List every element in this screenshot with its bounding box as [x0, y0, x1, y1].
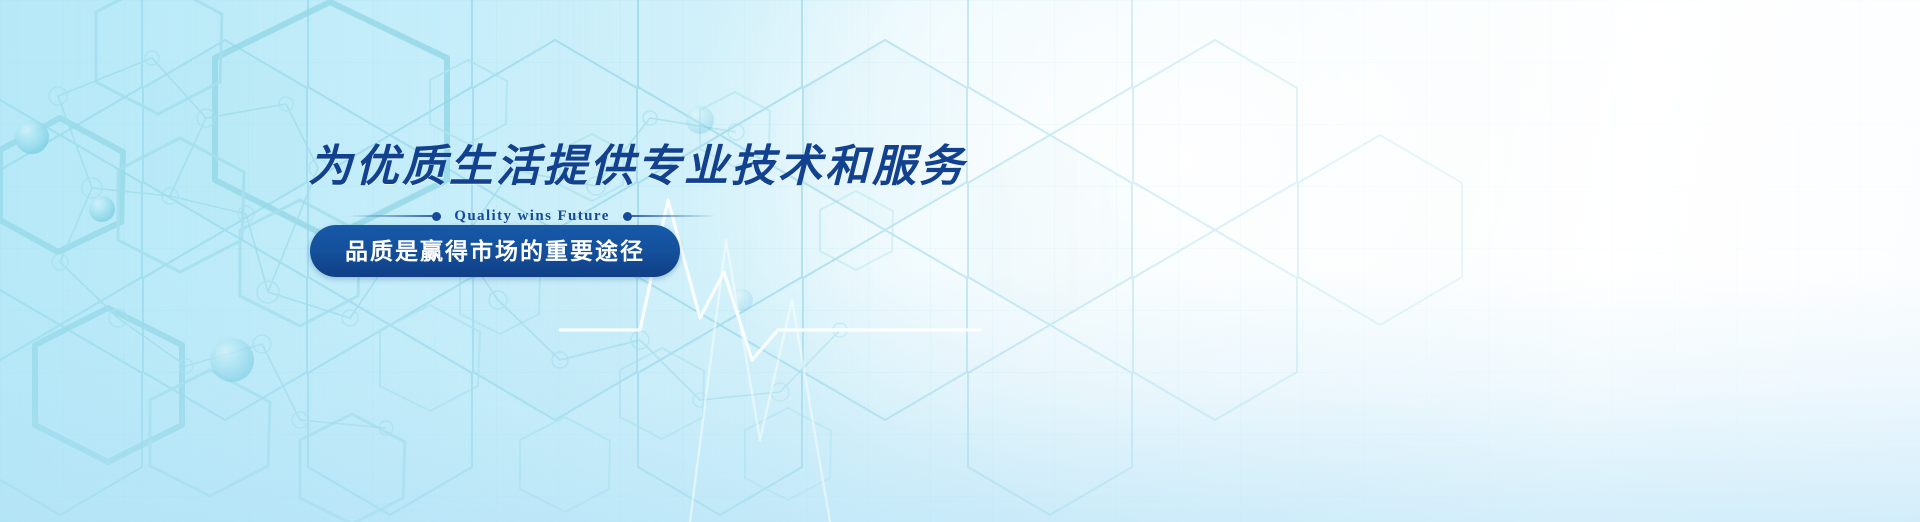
- tagline-dot-left: [432, 212, 441, 221]
- tagline-rule-right: [632, 215, 716, 217]
- tagline-dot-right: [623, 212, 632, 221]
- tagline-rule-left: [348, 215, 432, 217]
- hero-banner: 为优质生活提供专业技术和服务 Quality wins Future 品质是赢得…: [0, 0, 1920, 522]
- tagline-text: Quality wins Future: [441, 208, 623, 225]
- cta-button[interactable]: 品质是赢得市场的重要途径: [310, 225, 680, 277]
- banner-content: 为优质生活提供专业技术和服务 Quality wins Future 品质是赢得…: [0, 0, 1920, 522]
- page-title: 为优质生活提供专业技术和服务: [308, 130, 966, 194]
